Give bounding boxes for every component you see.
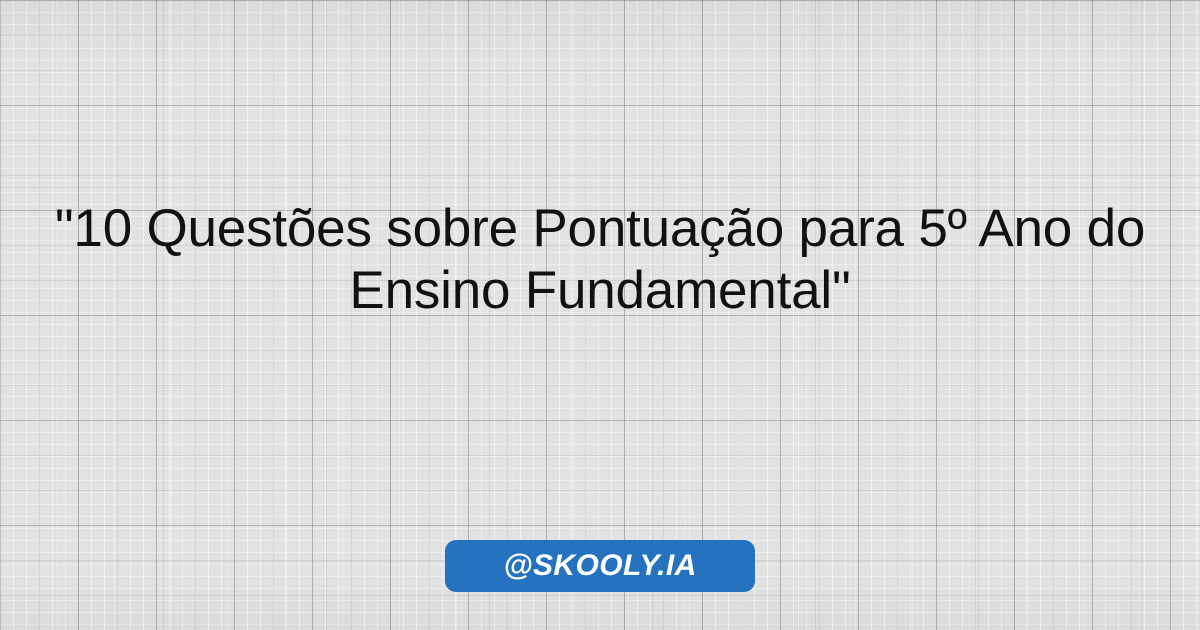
- social-share-card: "10 Questões sobre Pontuação para 5º Ano…: [0, 0, 1200, 630]
- page-title: "10 Questões sobre Pontuação para 5º Ano…: [16, 198, 1184, 322]
- handle-badge-label: @SKOOLY.IA: [503, 549, 696, 583]
- title-block: "10 Questões sobre Pontuação para 5º Ano…: [0, 0, 1200, 520]
- handle-badge: @SKOOLY.IA: [445, 540, 755, 592]
